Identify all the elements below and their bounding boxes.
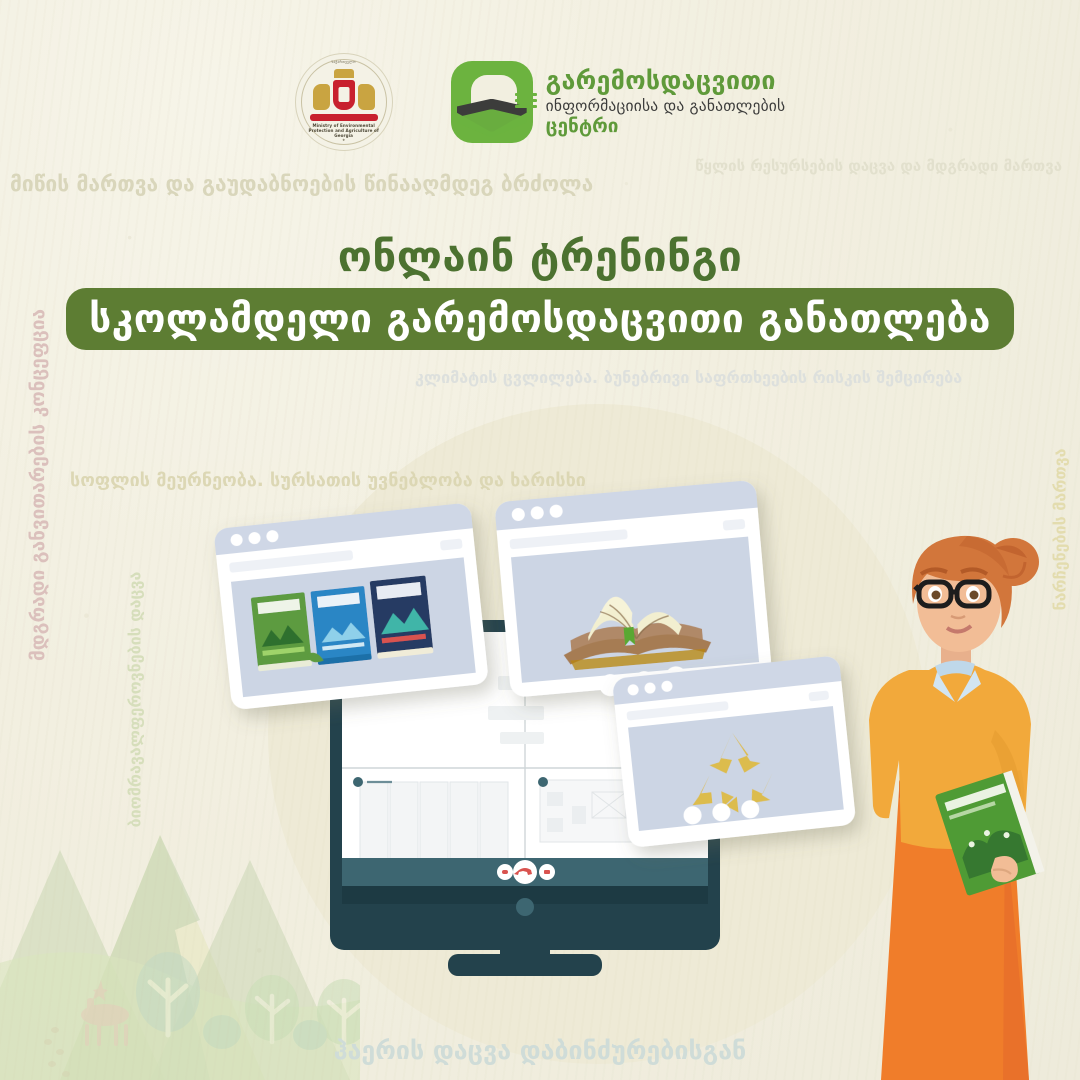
teacher-illustration bbox=[855, 520, 1080, 1080]
watermark-top-left: მიწის მართვა და გაუდაბნოების წინააღმდეგ … bbox=[10, 172, 593, 196]
emblem-subcaption: ❖ bbox=[296, 138, 392, 142]
emblem-ribbon bbox=[310, 114, 378, 121]
title-banner-label: სკოლამდელი გარემოსდაცვითი განათლება bbox=[89, 297, 991, 342]
title-banner: სკოლამდელი გარემოსდაცვითი განათლება bbox=[66, 288, 1014, 350]
emblem-arc-text: საქართველო bbox=[296, 60, 392, 64]
book-cover-blue bbox=[310, 586, 371, 665]
shield-icon bbox=[333, 80, 355, 110]
poster-canvas: საქართველო Ministry of Environmental Pro… bbox=[0, 0, 1080, 1080]
header-logos: საქართველო Ministry of Environmental Pro… bbox=[0, 42, 1080, 162]
emblem-caption: Ministry of Environmental Protection and… bbox=[304, 123, 384, 139]
logo-line-1: გარემოსდაცვითი bbox=[546, 68, 786, 93]
logo-text: გარემოსდაცვითი ინფორმაციისა და განათლები… bbox=[546, 68, 786, 137]
logo-line-2: ინფორმაციისა და განათლების bbox=[546, 97, 786, 116]
browser-window-recycling bbox=[612, 655, 857, 848]
logo-line-3: ცენტრი bbox=[546, 117, 786, 136]
logo-mark-icon bbox=[451, 61, 533, 143]
lion-right-icon bbox=[358, 84, 375, 110]
browser-window-books bbox=[213, 502, 489, 710]
georgia-ministry-emblem: საქართველო Ministry of Environmental Pro… bbox=[295, 53, 393, 151]
page-title: ონლაინ ტრენინგი bbox=[0, 232, 1080, 281]
book-cover-green bbox=[251, 592, 312, 671]
lion-left-icon bbox=[313, 84, 330, 110]
crown-icon bbox=[334, 69, 354, 78]
illustration-group bbox=[200, 470, 900, 1080]
watermark-vertical-left-1: მდგრადი განვითარების კონცეფცია bbox=[27, 321, 49, 661]
center-logo: გარემოსდაცვითი ინფორმაციისა და განათლები… bbox=[451, 61, 786, 143]
watermark-mid-1: კლიმატის ცვლილება. ბუნებრივი საფრთხეების… bbox=[415, 368, 962, 387]
book-cover-navy bbox=[370, 575, 434, 658]
